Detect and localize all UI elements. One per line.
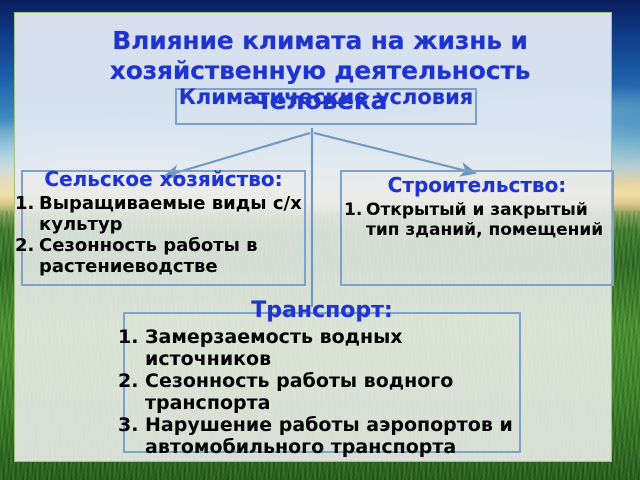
list-item-number: 3. xyxy=(118,414,138,436)
node-list-agriculture: 1. Выращиваемые виды с/х культур 2. Сезо… xyxy=(15,193,312,277)
list-item-number: 1. xyxy=(15,193,34,214)
list-item: 2. Сезонность работы водного транспорта xyxy=(118,370,526,414)
list-item-text: Выращиваемые виды с/х культур xyxy=(39,193,302,235)
list-item: 3. Нарушение работы аэропортов и автомоб… xyxy=(118,414,526,458)
node-heading-transport: Транспорт: xyxy=(118,298,526,324)
list-item-number: 1. xyxy=(344,200,362,220)
list-item: 1. Открытый и закрытый тип зданий, помещ… xyxy=(344,200,610,240)
list-item-text: Сезонность работы водного транспорта xyxy=(145,370,453,414)
node-heading-construction: Строительство: xyxy=(344,173,610,197)
node-list-construction: 1. Открытый и закрытый тип зданий, помещ… xyxy=(344,200,610,240)
list-item-number: 2. xyxy=(118,370,138,392)
node-list-transport: 1. Замерзаемость водных источников 2. Се… xyxy=(118,326,526,458)
node-construction: Строительство: 1. Открытый и закрытый ти… xyxy=(344,173,610,240)
list-item-text: Сезонность работы в растениеводстве xyxy=(39,235,258,277)
list-item-text: Нарушение работы аэропортов и автомобиль… xyxy=(145,414,513,458)
arrow-to-construction xyxy=(314,133,475,173)
list-item-text: Открытый и закрытый тип зданий, помещени… xyxy=(366,200,603,240)
node-agriculture: Сельское хозяйство: 1. Выращиваемые виды… xyxy=(15,167,312,277)
page-title: Влияние климата на жизнь и хозяйственную… xyxy=(40,26,600,116)
node-heading-agriculture: Сельское хозяйство: xyxy=(15,167,312,191)
list-item: 2. Сезонность работы в растениеводстве xyxy=(15,235,312,277)
list-item: 1. Замерзаемость водных источников xyxy=(118,326,526,370)
list-item: 1. Выращиваемые виды с/х культур xyxy=(15,193,312,235)
list-item-number: 1. xyxy=(118,326,138,348)
list-item-number: 2. xyxy=(15,235,34,256)
slide-canvas: Влияние климата на жизнь и хозяйственную… xyxy=(0,0,640,480)
node-transport: Транспорт: 1. Замерзаемость водных источ… xyxy=(118,298,526,458)
list-item-text: Замерзаемость водных источников xyxy=(145,326,403,370)
